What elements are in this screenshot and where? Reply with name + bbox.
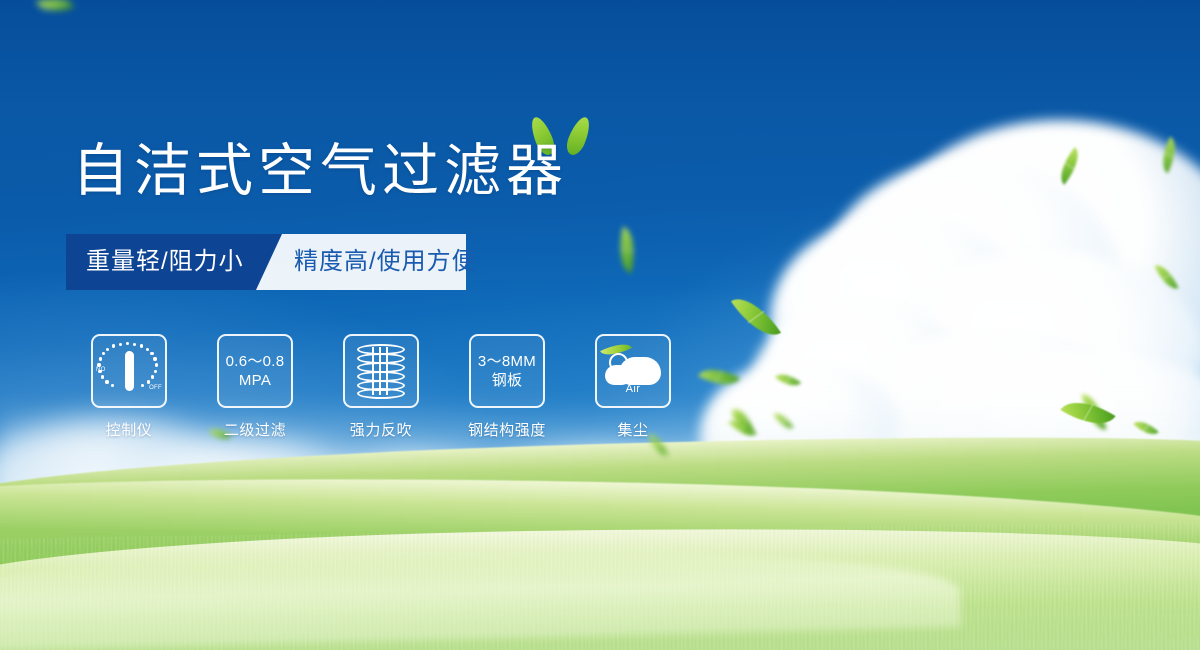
subtitle-banner: 重量轻/阻力小 精度高/使用方便: [66, 234, 466, 290]
air-label: Air: [603, 383, 663, 395]
banner-content: 自洁式空气过滤器 重量轻/阻力小 精度高/使用方便: [66, 0, 1126, 650]
feature-icon-box: NO OFF: [91, 334, 167, 408]
feature-icon-box: [343, 334, 419, 408]
feature-icon-box: Air: [595, 334, 671, 408]
gauge-needle-icon: [125, 351, 134, 391]
coil-icon: [357, 344, 405, 398]
gauge-off-label: OFF: [149, 385, 162, 391]
subtitle-right-text: 精度高/使用方便: [294, 234, 477, 290]
cloud-air-icon: Air: [603, 345, 663, 397]
steel-thickness-text: 3～8MM: [478, 352, 536, 371]
feature-label: 集尘: [617, 419, 648, 440]
pressure-range-text: 0.6～0.8: [226, 352, 285, 371]
page-title: 自洁式空气过滤器: [72, 143, 568, 200]
gauge-no-label: NO: [96, 367, 106, 373]
feature-item-two-stage-filter[interactable]: 0.6～0.8 MPA 二级过滤: [192, 334, 318, 440]
feature-label: 钢结构强度: [468, 419, 546, 440]
feature-item-steel-strength[interactable]: 3～8MM 钢板 钢结构强度: [444, 334, 570, 440]
product-hero-banner: 自洁式空气过滤器 重量轻/阻力小 精度高/使用方便: [0, 0, 1200, 650]
gauge-icon: NO OFF: [97, 342, 161, 400]
subtitle-left-text: 重量轻/阻力小: [86, 234, 244, 290]
cloud-large-icon: [619, 357, 661, 385]
feature-label: 控制仪: [106, 419, 153, 440]
feature-item-dust-collection[interactable]: Air 集尘: [570, 334, 696, 440]
feature-label: 二级过滤: [224, 419, 286, 440]
feature-icon-box: 3～8MM 钢板: [469, 334, 545, 408]
pressure-unit-text: MPA: [239, 371, 271, 390]
steel-plate-text: 钢板: [492, 371, 523, 390]
feature-icon-box: 0.6～0.8 MPA: [217, 334, 293, 408]
feature-label: 强力反吹: [350, 419, 412, 440]
feature-item-controller[interactable]: NO OFF 控制仪: [66, 334, 192, 440]
feature-item-back-blow[interactable]: 强力反吹: [318, 334, 444, 440]
feature-list: NO OFF 控制仪 0.6～0.8 MPA 二级过滤: [66, 334, 696, 440]
